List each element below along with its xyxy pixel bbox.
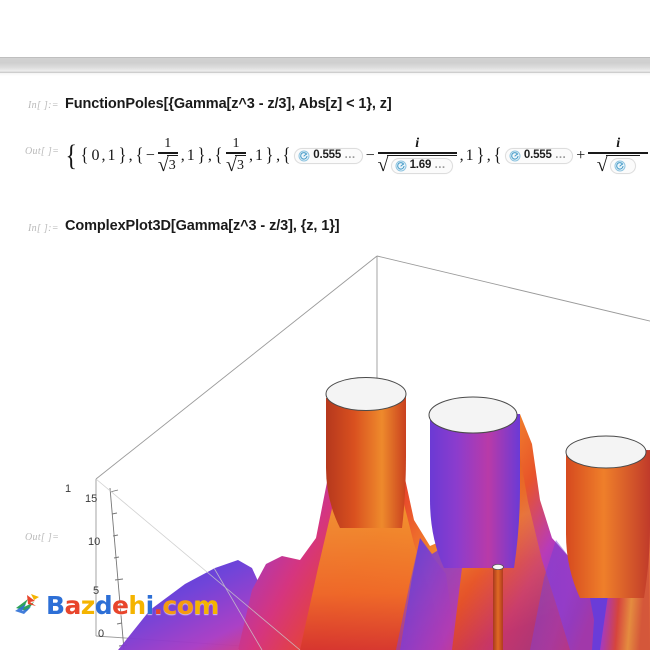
pill-ellipsis: … (344, 150, 356, 162)
pair4-minus: − (366, 148, 375, 164)
toolbar-shadow (0, 71, 650, 76)
brace-close-pair1: } (118, 148, 126, 163)
complex-plot-3d-graphic[interactable]: 15 10 5 0 1 (0, 238, 650, 650)
denominator-sqrt3: √ 3 (226, 154, 246, 175)
fraction-i-over-sqrt-clipped: i √ (588, 137, 648, 174)
numerator-imaginary-unit: i (616, 137, 620, 152)
z-tick-10: 10 (88, 536, 100, 548)
pair4-order: 1 (466, 148, 474, 164)
numeric-approx-icon (614, 160, 626, 172)
z-tick-15: 15 (85, 493, 97, 505)
fraction-neg-one-over-sqrt3: 1 √ 3 (158, 137, 178, 174)
brace-open-outer: { (65, 144, 77, 168)
pair2-order: 1 (187, 148, 195, 164)
fraction-one-over-sqrt3: 1 √ 3 (226, 137, 246, 174)
z-axis (110, 488, 124, 650)
brace-open-pair4: { (283, 148, 291, 163)
pair5-plus: + (576, 148, 585, 164)
out-label-1: Out[ ]= (25, 146, 59, 157)
pill-ellipsis: … (555, 150, 567, 162)
numeric-pill-0555-b[interactable]: 0.555 … (505, 148, 573, 164)
pill-value: 1.69 (410, 160, 432, 172)
pill-value: 0.555 (313, 150, 341, 162)
radical-3: √ 3 (158, 155, 178, 175)
pole-chimney-1 (326, 378, 406, 529)
in-label-2: In[ ]:= (28, 223, 59, 234)
pill-value: 0.555 (524, 150, 552, 162)
radical-169: √ 1.69 … (378, 155, 457, 175)
pole-chimney-3 (566, 436, 650, 598)
pair4-comma: , (460, 148, 464, 164)
pair2-minus: − (146, 148, 155, 164)
input-expression-1[interactable]: FunctionPoles[{Gamma[z^3 - z/3], Abs[z] … (65, 96, 392, 112)
output-expression-1: { { 0 , 1 } , { − 1 √ 3 , 1 } , { 1 (63, 128, 650, 184)
radical-3: √ 3 (226, 155, 246, 175)
sep-3: , (276, 148, 280, 164)
brace-open-pair1: { (81, 148, 89, 163)
sep-1: , (129, 148, 133, 164)
pill-ellipsis: … (434, 160, 446, 172)
axis-corner-label: 1 (65, 483, 71, 495)
numeric-pill-0555-a[interactable]: 0.555 … (294, 148, 362, 164)
in-label-1: In[ ]:= (28, 100, 59, 111)
radical-clipped: √ (597, 155, 640, 175)
brace-close-pair4: } (476, 148, 484, 163)
pair3-order: 1 (255, 148, 263, 164)
input-expression-2[interactable]: ComplexPlot3D[Gamma[z^3 - z/3], {z, 1}] (65, 218, 340, 234)
pair1-order: 1 (108, 148, 116, 164)
brace-close-pair3: } (266, 148, 274, 163)
radicand-3: 3 (167, 155, 178, 175)
numeric-approx-icon (509, 150, 521, 162)
denominator-sqrt-169: √ 1.69 … (378, 154, 457, 175)
numeric-approx-icon (395, 160, 407, 172)
z-tick-0: 0 (98, 628, 104, 640)
notebook-window: In[ ]:= FunctionPoles[{Gamma[z^3 - z/3],… (0, 0, 650, 650)
fraction-i-over-sqrt169: i √ 1.69 … (378, 137, 457, 174)
pair1-value: 0 (92, 148, 100, 164)
numeric-pill-169[interactable]: 1.69 … (391, 158, 453, 174)
surface-left-sheet (118, 560, 262, 650)
numeric-pill-clipped[interactable] (610, 158, 636, 174)
brace-open-pair3: { (215, 148, 223, 163)
z-tick-5: 5 (93, 585, 99, 597)
pair2-comma: , (181, 148, 185, 164)
numerator-one: 1 (233, 137, 240, 152)
denominator-sqrt3: √ 3 (158, 154, 178, 175)
denominator-sqrt-clipped: √ (597, 154, 640, 175)
brace-close-pair2: } (197, 148, 205, 163)
brace-open-pair5: { (493, 148, 501, 163)
sep-4: , (487, 148, 491, 164)
pair3-comma: , (249, 148, 253, 164)
pole-spike (493, 564, 504, 650)
numerator-one: 1 (164, 137, 171, 152)
radicand-169: 1.69 … (387, 155, 457, 175)
brace-open-pair2: { (135, 148, 143, 163)
numerator-imaginary-unit: i (415, 137, 419, 152)
radicand-3: 3 (235, 155, 246, 175)
pair1-comma: , (102, 148, 106, 164)
sep-2: , (208, 148, 212, 164)
radicand-clipped (606, 155, 640, 175)
pole-chimney-2 (429, 397, 520, 568)
numeric-approx-icon (298, 150, 310, 162)
